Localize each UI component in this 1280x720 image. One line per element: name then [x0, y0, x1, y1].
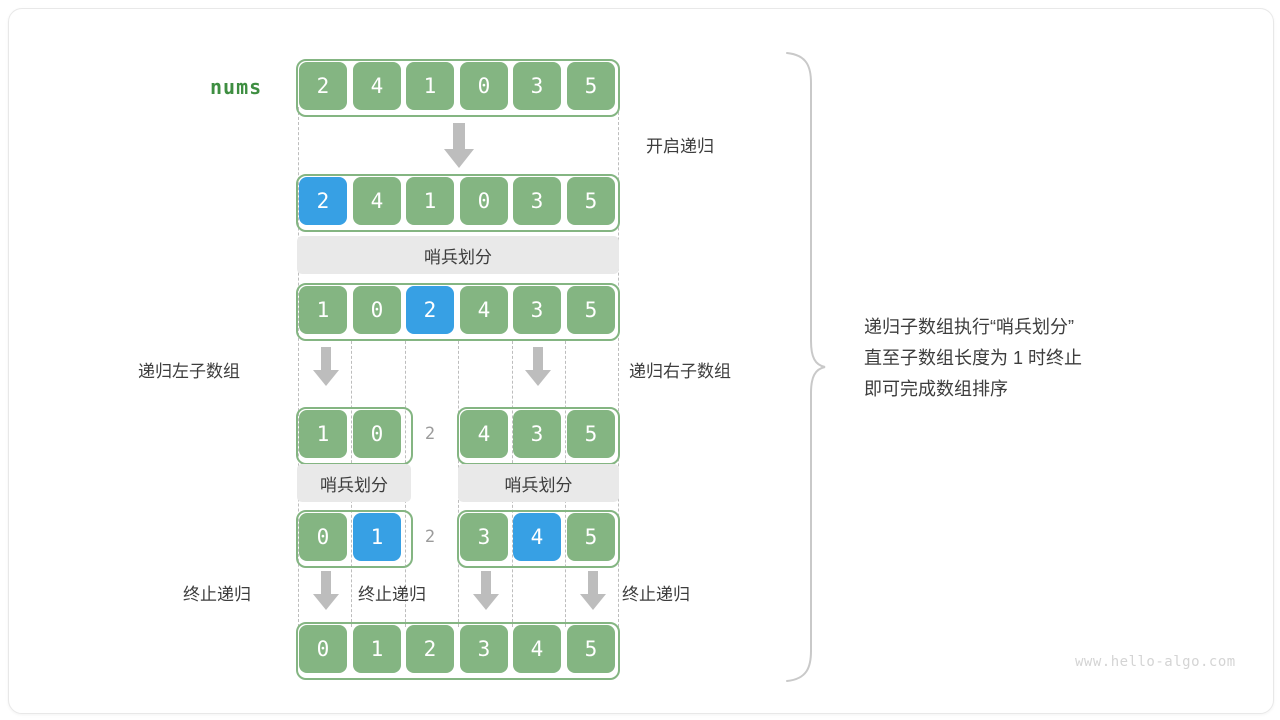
- cell-r1-c4: 3: [513, 62, 561, 110]
- cell-r1-c0: 2: [299, 62, 347, 110]
- label-terminate-2: 终止递归: [358, 580, 426, 605]
- cell-r4-c2-pivot-fixed: 2: [406, 410, 454, 458]
- watermark: www.hello-algo.com: [1075, 654, 1236, 670]
- diagram-stage: nums 2 4 1 0 3 5 开启递归 2 4 1 0 3 5 哨兵划分 1…: [9, 9, 1273, 713]
- cell-r5-c3: 3: [460, 513, 508, 561]
- down-arrow-recurse-right: [524, 347, 552, 392]
- cell-r2-c5: 5: [567, 177, 615, 225]
- cell-r2-c0: 2: [299, 177, 347, 225]
- down-arrow-terminate-2: [472, 571, 500, 616]
- cell-r3-c4: 3: [513, 286, 561, 334]
- label-recurse-left: 递归左子数组: [138, 357, 240, 382]
- right-brace: [785, 49, 827, 690]
- cell-r5-c4: 4: [513, 513, 561, 561]
- annotation-line-2: 直至子数组长度为 1 时终止: [864, 343, 1082, 374]
- cell-r1-c1: 4: [353, 62, 401, 110]
- cell-r5-c0: 0: [299, 513, 347, 561]
- cell-r4-c3: 4: [460, 410, 508, 458]
- cell-r1-c2: 1: [406, 62, 454, 110]
- cell-r3-c3: 4: [460, 286, 508, 334]
- label-terminate-3: 终止递归: [622, 580, 690, 605]
- cell-r2-c3: 0: [460, 177, 508, 225]
- cell-r2-c1: 4: [353, 177, 401, 225]
- cell-r4-c1: 0: [353, 410, 401, 458]
- cell-r6-c4: 4: [513, 625, 561, 673]
- op-box-partition-full: 哨兵划分: [297, 236, 619, 274]
- cell-r5-c5: 5: [567, 513, 615, 561]
- cell-r5-c1: 1: [353, 513, 401, 561]
- cell-r2-c4: 3: [513, 177, 561, 225]
- cell-r4-c4: 3: [513, 410, 561, 458]
- diagram-card: nums 2 4 1 0 3 5 开启递归 2 4 1 0 3 5 哨兵划分 1…: [8, 8, 1274, 714]
- cell-r1-c5: 5: [567, 62, 615, 110]
- cell-r6-c0: 0: [299, 625, 347, 673]
- down-arrow-start-recursion: [443, 123, 475, 174]
- label-start-recursion: 开启递归: [646, 132, 714, 157]
- cell-r1-c3: 0: [460, 62, 508, 110]
- label-terminate-1: 终止递归: [183, 580, 251, 605]
- nums-label: nums: [210, 75, 262, 99]
- cell-r3-c5: 5: [567, 286, 615, 334]
- cell-r6-c1: 1: [353, 625, 401, 673]
- cell-r4-c5: 5: [567, 410, 615, 458]
- cell-r5-c2-pivot-fixed: 2: [406, 513, 454, 561]
- cell-r6-c3: 3: [460, 625, 508, 673]
- annotation-line-1: 递归子数组执行“哨兵划分”: [864, 312, 1074, 343]
- annotation-line-3: 即可完成数组排序: [864, 374, 1008, 405]
- down-arrow-terminate-3: [579, 571, 607, 616]
- down-arrow-recurse-left: [312, 347, 340, 392]
- down-arrow-terminate-1: [312, 571, 340, 616]
- label-recurse-right: 递归右子数组: [629, 357, 731, 382]
- cell-r6-c5: 5: [567, 625, 615, 673]
- cell-r3-c0: 1: [299, 286, 347, 334]
- op-box-partition-right: 哨兵划分: [458, 464, 619, 502]
- cell-r6-c2: 2: [406, 625, 454, 673]
- cell-r2-c2: 1: [406, 177, 454, 225]
- cell-r3-c2: 2: [406, 286, 454, 334]
- cell-r3-c1: 0: [353, 286, 401, 334]
- cell-r4-c0: 1: [299, 410, 347, 458]
- op-box-partition-left: 哨兵划分: [297, 464, 411, 502]
